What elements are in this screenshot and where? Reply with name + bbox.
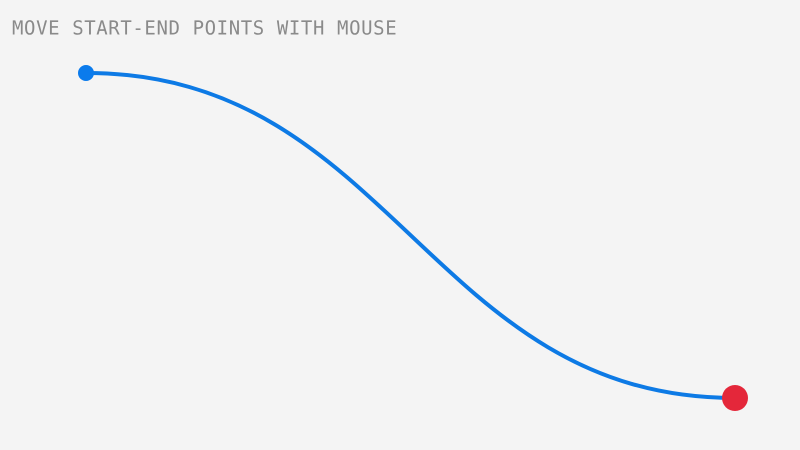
page-title: MOVE START-END POINTS WITH MOUSE xyxy=(12,17,397,39)
curve-svg-canvas xyxy=(0,0,800,450)
end-point-handle[interactable] xyxy=(722,385,748,411)
bezier-editor-app: MOVE START-END POINTS WITH MOUSE xyxy=(0,0,800,450)
curve-canvas[interactable]: MOVE START-END POINTS WITH MOUSE xyxy=(0,0,800,450)
start-point-handle[interactable] xyxy=(78,65,94,81)
